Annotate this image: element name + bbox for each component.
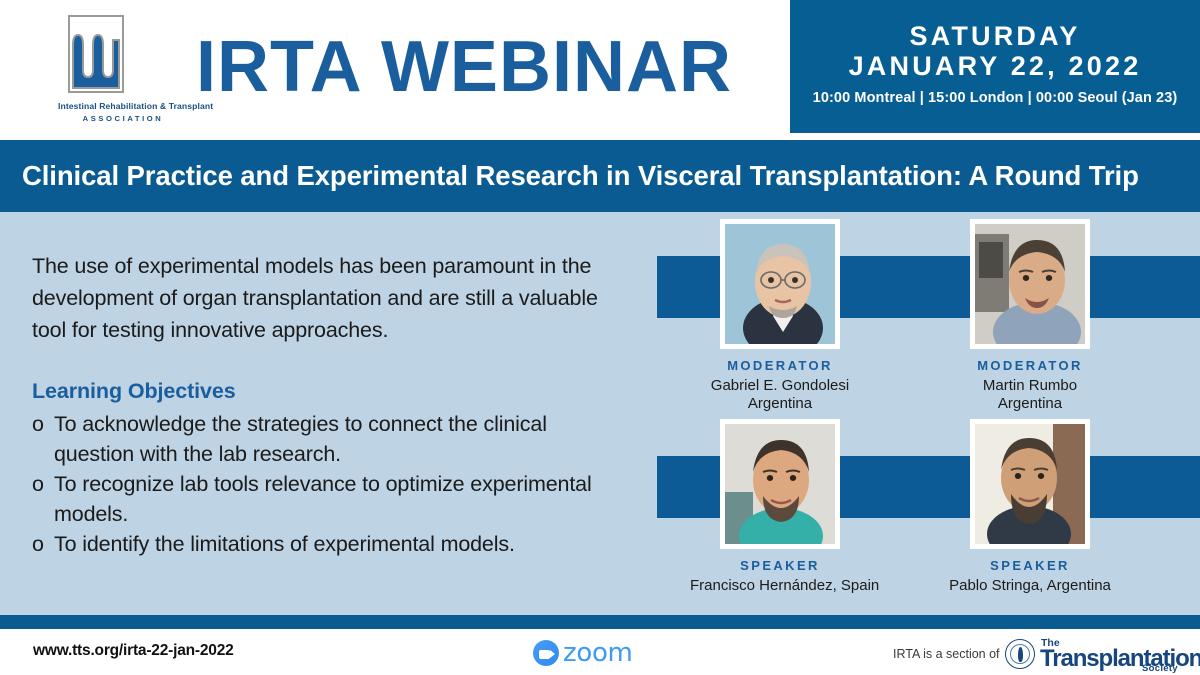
- person-name: Pablo Stringa, Argentina: [940, 577, 1120, 595]
- avatar: [970, 219, 1090, 349]
- objectives-list: oTo acknowledge the strategies to connec…: [32, 409, 632, 559]
- session-title: Clinical Practice and Experimental Resea…: [22, 140, 1187, 212]
- list-item-text: To identify the limitations of experimen…: [54, 532, 515, 556]
- tts-seal-figure-icon: [1018, 647, 1023, 662]
- list-item-text: To acknowledge the strategies to connect…: [54, 412, 547, 466]
- event-url[interactable]: www.tts.org/irta-22-jan-2022: [33, 642, 234, 660]
- divider-strip: [0, 615, 1200, 629]
- objectives-heading: Learning Objectives: [32, 379, 632, 404]
- session-title-bar: Clinical Practice and Experimental Resea…: [0, 140, 1200, 212]
- header: Intestinal Rehabilitation & Transplant A…: [0, 0, 1200, 133]
- list-item-text: To recognize lab tools relevance to opti…: [54, 472, 592, 526]
- webinar-poster: Intestinal Rehabilitation & Transplant A…: [0, 0, 1200, 675]
- person-name: Francisco Hernández, Spain: [690, 577, 870, 595]
- person-card: MODERATOR Martin Rumbo Argentina: [940, 219, 1120, 413]
- list-item: oTo identify the limitations of experime…: [32, 529, 632, 559]
- person-name: Martin Rumbo: [940, 377, 1120, 395]
- avatar: [720, 219, 840, 349]
- list-item: oTo acknowledge the strategies to connec…: [32, 409, 632, 469]
- tts-seal-icon: [1005, 639, 1035, 669]
- portrait-stringa: [975, 424, 1085, 544]
- person-country: Argentina: [940, 395, 1120, 413]
- person-card: SPEAKER Francisco Hernández, Spain: [690, 419, 870, 595]
- person-role: MODERATOR: [940, 358, 1120, 373]
- zoom-camera-icon: [533, 640, 559, 666]
- footer: www.tts.org/irta-22-jan-2022 zoom IRTA i…: [0, 629, 1200, 675]
- person-role: MODERATOR: [690, 358, 870, 373]
- zoom-camera-body-icon: [539, 650, 550, 659]
- irta-logo-mark-icon: [68, 15, 124, 93]
- tts-society-label: Society: [1142, 663, 1178, 674]
- irta-logo-name: Intestinal Rehabilitation & Transplant: [58, 101, 188, 111]
- person-name: Gabriel E. Gondolesi: [690, 377, 870, 395]
- zoom-camera-lens-icon: [550, 650, 555, 658]
- bullet-marker-icon: o: [32, 469, 54, 499]
- person-card: MODERATOR Gabriel E. Gondolesi Argentina: [690, 219, 870, 413]
- date-weekday: SATURDAY: [790, 22, 1200, 51]
- zoom-wordmark: zoom: [563, 638, 633, 669]
- person-country: Argentina: [690, 395, 870, 413]
- avatar: [970, 419, 1090, 549]
- date-timezones: 10:00 Montreal | 15:00 London | 00:00 Se…: [790, 90, 1200, 106]
- bullet-marker-icon: o: [32, 409, 54, 439]
- date-full: JANUARY 22, 2022: [790, 51, 1200, 83]
- people-grid: MODERATOR Gabriel E. Gondolesi Argentina: [640, 212, 1200, 615]
- list-item: oTo recognize lab tools relevance to opt…: [32, 469, 632, 529]
- page-title: IRTA WEBINAR: [196, 22, 776, 112]
- person-card: SPEAKER Pablo Stringa, Argentina: [940, 419, 1120, 595]
- avatar: [720, 419, 840, 549]
- tts-prefix-text: IRTA is a section of: [893, 647, 1000, 661]
- body-area: The use of experimental models has been …: [0, 212, 1200, 615]
- portrait-hernandez: [725, 424, 835, 544]
- irta-logo: Intestinal Rehabilitation & Transplant A…: [58, 15, 188, 125]
- portrait-rumbo: [975, 224, 1085, 344]
- intro-paragraph: The use of experimental models has been …: [32, 250, 632, 346]
- person-role: SPEAKER: [690, 558, 870, 573]
- description-column: The use of experimental models has been …: [32, 250, 632, 559]
- portrait-gondolesi: [725, 224, 835, 344]
- person-role: SPEAKER: [940, 558, 1120, 573]
- irta-logo-villi-icon: [68, 15, 124, 93]
- bullet-marker-icon: o: [32, 529, 54, 559]
- date-block: SATURDAY JANUARY 22, 2022 10:00 Montreal…: [790, 0, 1200, 133]
- irta-logo-association: ASSOCIATION: [58, 114, 188, 123]
